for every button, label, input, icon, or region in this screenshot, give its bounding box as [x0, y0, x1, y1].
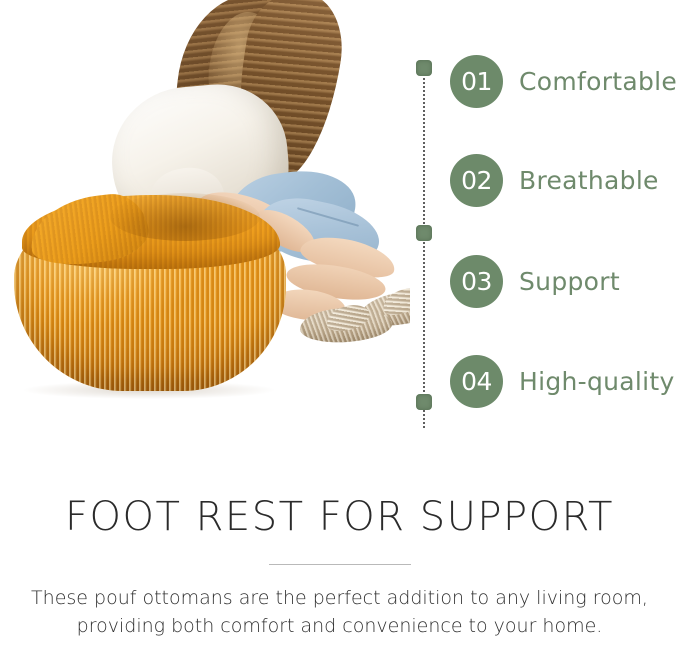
timeline-marker-top	[416, 60, 432, 76]
headline: FOOT REST FOR SUPPORT	[0, 470, 679, 539]
product-photo	[0, 0, 410, 470]
feature-label-comfortable: Comfortable	[519, 67, 677, 96]
timeline-marker-middle	[416, 225, 432, 241]
description-line-2: providing both comfort and convenience t…	[15, 613, 665, 641]
timeline-marker-bottom	[416, 394, 432, 410]
feature-item-support: 03 Support	[450, 254, 620, 308]
feature-item-high-quality: 04 High-quality	[450, 354, 675, 408]
dotted-timeline-line	[423, 70, 425, 428]
feature-number-badge-01: 01	[450, 55, 503, 108]
product-infographic: 01 Comfortable 02 Breathable 03 Support …	[0, 0, 679, 645]
feature-number-badge-03: 03	[450, 255, 503, 308]
feature-number-badge-04: 04	[450, 355, 503, 408]
beanbag-seat-hollow	[110, 193, 260, 241]
feature-item-comfortable: 01 Comfortable	[450, 54, 677, 108]
feature-timeline: 01 Comfortable 02 Breathable 03 Support …	[404, 48, 679, 428]
feature-label-high-quality: High-quality	[519, 367, 675, 396]
description-paragraph: These pouf ottomans are the perfect addi…	[15, 585, 665, 640]
feature-label-support: Support	[519, 267, 620, 296]
bottom-text-block: FOOT REST FOR SUPPORT These pouf ottoman…	[0, 470, 679, 645]
feature-label-breathable: Breathable	[519, 166, 659, 195]
divider-rule	[269, 564, 411, 565]
beanbag-ottoman	[14, 195, 286, 393]
description-line-1: These pouf ottomans are the perfect addi…	[15, 585, 665, 613]
feature-number-badge-02: 02	[450, 154, 503, 207]
feature-item-breathable: 02 Breathable	[450, 153, 659, 207]
